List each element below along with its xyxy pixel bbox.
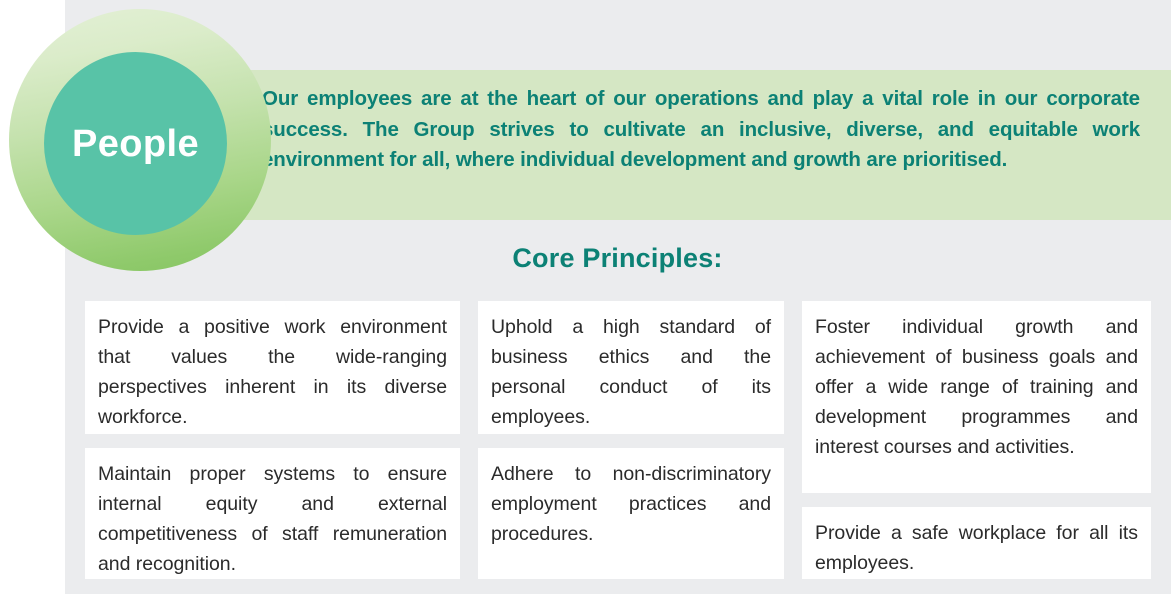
people-badge-circle: People	[44, 52, 227, 235]
people-statement: Our employees are at the heart of our op…	[262, 84, 1140, 176]
principle-card: Adhere to non-discriminatory employment …	[478, 448, 784, 579]
principle-card: Foster individual growth and achievement…	[802, 301, 1151, 493]
principles-column-3: Foster individual growth and achievement…	[802, 301, 1151, 579]
people-badge-label: People	[72, 125, 199, 163]
principles-column-1: Provide a positive work environment that…	[85, 301, 460, 579]
principle-card: Maintain proper systems to ensure intern…	[85, 448, 460, 579]
principles-column-2: Uphold a high standard of business ethic…	[478, 301, 784, 579]
principle-card: Provide a positive work environment that…	[85, 301, 460, 434]
principle-card: Provide a safe workplace for all its emp…	[802, 507, 1151, 579]
core-principles-grid: Provide a positive work environment that…	[85, 301, 1151, 579]
principle-card: Uphold a high standard of business ethic…	[478, 301, 784, 434]
core-principles-heading: Core Principles:	[200, 243, 1035, 274]
